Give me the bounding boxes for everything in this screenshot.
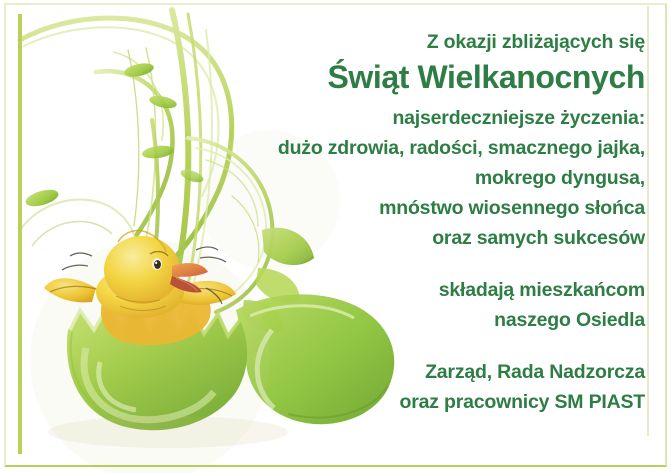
greeting-wish-4: oraz samych sukcesów (225, 223, 645, 253)
greeting-from-line-1: składają mieszkańcom (225, 275, 645, 305)
signature-line-1: Zarząd, Rada Nadzorcza (225, 357, 645, 387)
greeting-wishes-intro: najserdeczniejsze życzenia: (225, 103, 645, 133)
card-frame-bottom-rule (22, 465, 652, 467)
greeting-wish-3: mnóstwo wiosennego słońca (225, 193, 645, 223)
left-accent-rule (18, 14, 22, 454)
spacer-after-wishes (225, 253, 645, 275)
leaf-cluster-upper (24, 61, 205, 209)
greeting-text-block: Z okazji zbliżających się Świąt Wielkano… (225, 28, 645, 417)
greeting-wish-1: dużo zdrowia, radości, smacznego jajka, (225, 133, 645, 163)
card-frame-right-rule (647, 6, 649, 436)
greeting-lead-line: Z okazji zbliżających się (225, 28, 645, 56)
easter-greeting-card: Z okazji zbliżających się Świąt Wielkano… (0, 0, 671, 473)
greeting-wish-2: mokrego dyngusa, (225, 163, 645, 193)
greeting-from-line-2: naszego Osiedla (225, 305, 645, 335)
greeting-headline: Świąt Wielkanocnych (225, 57, 645, 97)
signature-line-2: oraz pracownicy SM PIAST (225, 387, 645, 417)
spacer-before-signature (225, 335, 645, 357)
